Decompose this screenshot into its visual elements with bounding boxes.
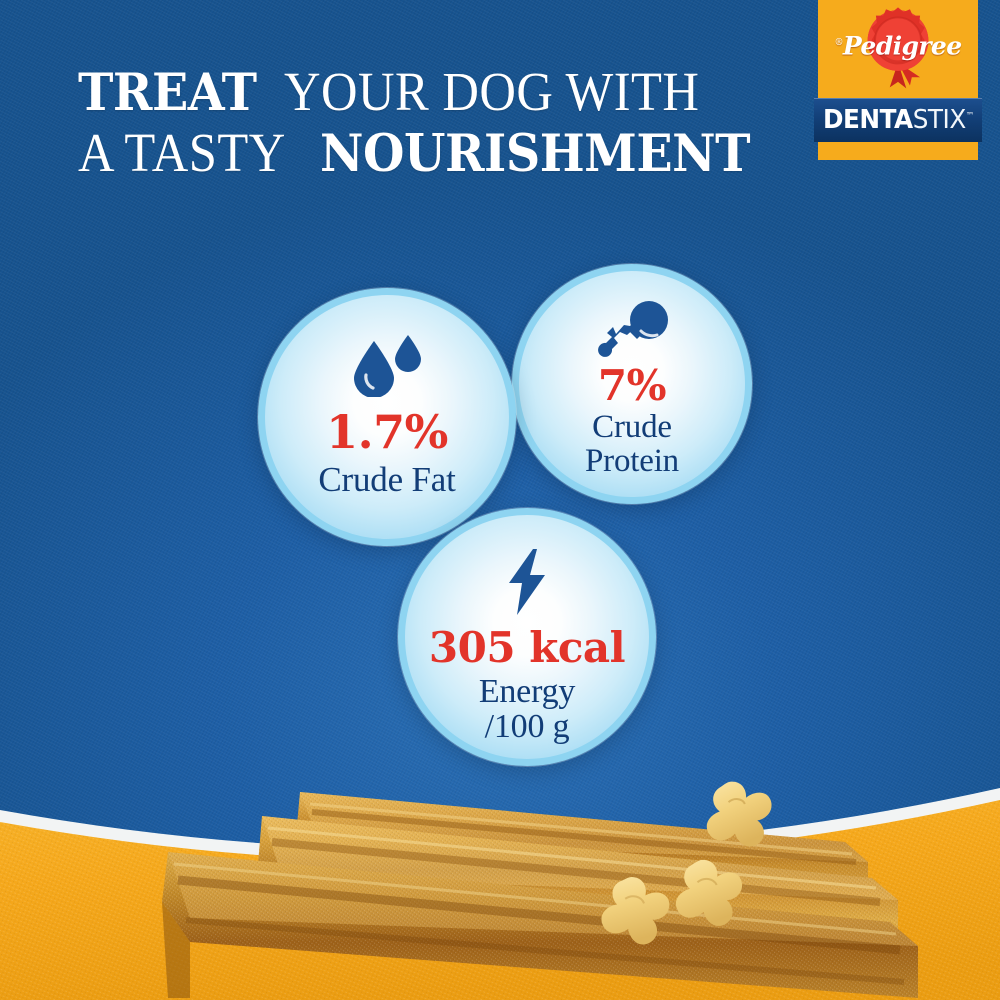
fact-bubble-energy: 305 kcal Energy /100 g [398, 508, 656, 766]
fact-label-crude-protein-line2: Protein [585, 445, 679, 479]
headline-line-2: A TASTYNOURISHMENT [78, 127, 782, 179]
headline: TREATYOUR DOG WITH A TASTYNOURISHMENT [78, 66, 782, 178]
fact-bubble-crude-protein: 7% Crude Protein [512, 264, 752, 504]
brand-registered-mark: ® [834, 38, 842, 48]
headline-word-nourishment: NOURISHMENT [320, 130, 750, 178]
dentastix-wordmark: DENTASTIX™ [823, 105, 974, 135]
fact-label-energy-line1: Energy [479, 675, 575, 710]
fact-value-crude-fat: 1.7% [326, 409, 448, 455]
fact-bubble-crude-fat: 1.7% Crude Fat [258, 288, 516, 546]
fact-label-crude-fat: Crude Fat [318, 462, 455, 498]
dentastix-tm-mark: ™ [965, 111, 973, 121]
drumstick-icon [589, 301, 675, 359]
brand-name-text: Pedigree [843, 32, 962, 61]
headline-line-1-rest: YOUR DOG WITH [284, 66, 699, 118]
dentastix-denta: DENTA [823, 105, 913, 135]
product-dental-stix [0, 750, 1000, 1000]
fact-label-crude-protein: Crude Protein [585, 411, 679, 478]
fact-label-energy-line2: /100 g [479, 710, 575, 745]
brand-name: ®Pedigree [823, 32, 973, 61]
water-drop-icon [348, 335, 426, 397]
fact-value-energy: 305 kcal [429, 627, 625, 669]
headline-line-2-lead: A TASTY [78, 127, 286, 179]
fact-label-energy: Energy /100 g [479, 675, 575, 744]
lightning-bolt-icon [503, 549, 551, 615]
product-image-canvas: TREATYOUR DOG WITH A TASTYNOURISHMENT [0, 0, 1000, 1000]
fact-value-crude-protein: 7% [598, 365, 666, 407]
brand-lockup[interactable]: ®Pedigree DENTASTIX™ [818, 0, 978, 160]
fact-label-crude-protein-line1: Crude [585, 411, 679, 445]
dentastix-sublogo[interactable]: DENTASTIX™ [814, 98, 982, 142]
dentastix-stix: STIX [912, 105, 965, 135]
headline-word-treat: TREAT [78, 69, 257, 117]
headline-line-1: TREATYOUR DOG WITH [78, 66, 782, 118]
